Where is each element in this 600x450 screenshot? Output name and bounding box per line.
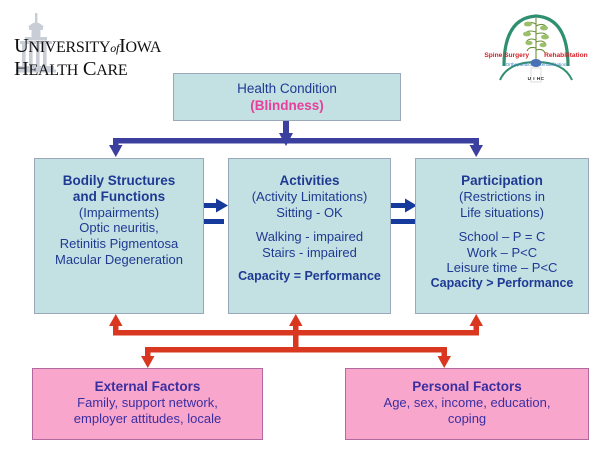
- bodily-title-line-2: and Functions: [35, 189, 203, 205]
- contextual-factors-connector-arrow: [109, 314, 483, 368]
- uihc-c: C: [83, 58, 96, 80]
- health-condition-highlight: (Blindness): [174, 98, 400, 114]
- activities-capacity-performance: Capacity = Performance: [229, 269, 390, 284]
- participation-restrictions-line-2: Life situations): [416, 205, 588, 221]
- external-factors-title: External Factors: [33, 379, 262, 395]
- activities-item-sitting: Sitting - OK: [229, 205, 390, 221]
- activities-item-walking: Walking - impaired: [229, 229, 390, 245]
- personal-factors-line-1: Age, sex, income, education,: [346, 395, 588, 411]
- health-to-row-distributor-arrow: [109, 121, 483, 157]
- personal-factors-title: Personal Factors: [346, 379, 588, 395]
- personal-factors-line-2: coping: [346, 411, 588, 427]
- uihc-wordmark-line-1: UNIVERSITYofIOWA: [14, 36, 172, 57]
- bodily-item-retinitis-pigmentosa: Retinitis Pigmentosa: [35, 236, 203, 252]
- participation-title: Participation: [416, 173, 588, 189]
- uihc-wordmark-line-2: HEALTH CARE: [14, 59, 172, 80]
- activities-limitations-label: (Activity Limitations): [229, 189, 390, 205]
- health-condition-box[interactable]: Health Condition (Blindness): [173, 73, 401, 121]
- bodily-item-macular-degeneration: Macular Degeneration: [35, 252, 203, 268]
- bodily-impairments-label: (Impairments): [35, 205, 203, 221]
- ssr-right-text: Rehabilitation: [544, 52, 588, 59]
- participation-restrictions-line-1: (Restrictions in: [416, 189, 588, 205]
- external-factors-box[interactable]: External Factors Family, support network…: [32, 368, 263, 440]
- bodily-structures-and-functions-box[interactable]: Bodily Structures and Functions (Impairm…: [34, 158, 204, 314]
- health-condition-title: Health Condition: [174, 81, 400, 98]
- uihc-u: U: [14, 35, 29, 57]
- icf-model-diagram: UNIVERSITYofIOWA HEALTH CARE: [0, 0, 600, 450]
- ssr-left-text: Spine Surgery: [484, 52, 529, 59]
- bodily-title-line-1: Bodily Structures: [35, 173, 203, 189]
- participation-item-school: School – P = C: [416, 229, 588, 245]
- uihc-owa: OWA: [126, 39, 162, 56]
- activities-box[interactable]: Activities (Activity Limitations) Sittin…: [228, 158, 391, 314]
- external-factors-line-2: employer attitudes, locale: [33, 411, 262, 427]
- spine-surgery-rehabilitation-logo: Spine SurgeryRehabilitation Orthopaedics…: [478, 4, 594, 96]
- uihc-h: H: [14, 58, 29, 80]
- participation-item-work: Work – P<C: [416, 245, 588, 261]
- activities-title: Activities: [229, 173, 390, 189]
- uihc-of: of: [110, 41, 119, 55]
- external-factors-line-1: Family, support network,: [33, 395, 262, 411]
- ssr-bottom-text: U I HC: [478, 76, 594, 81]
- ssr-logo-main-text: Spine SurgeryRehabilitation: [478, 52, 594, 59]
- university-of-iowa-health-care-logo: UNIVERSITYofIOWA HEALTH CARE: [8, 8, 173, 98]
- uihc-are: ARE: [96, 62, 127, 79]
- uihc-wordmark: UNIVERSITYofIOWA HEALTH CARE: [14, 36, 172, 79]
- uihc-niversity: NIVERSITY: [29, 39, 111, 56]
- participation-item-leisure: Leisure time – P<C: [416, 260, 588, 276]
- ssr-sub-text: Orthopaedics & Rehabilitation: [478, 62, 594, 67]
- participation-box[interactable]: Participation (Restrictions in Life situ…: [415, 158, 589, 314]
- participation-capacity-performance: Capacity > Performance: [416, 276, 588, 291]
- uihc-ealth: EALTH: [29, 62, 78, 79]
- personal-factors-box[interactable]: Personal Factors Age, sex, income, educa…: [345, 368, 589, 440]
- spine-arc-icon: [478, 4, 594, 96]
- activities-item-stairs: Stairs - impaired: [229, 245, 390, 261]
- bodily-item-optic-neuritis: Optic neuritis,: [35, 220, 203, 236]
